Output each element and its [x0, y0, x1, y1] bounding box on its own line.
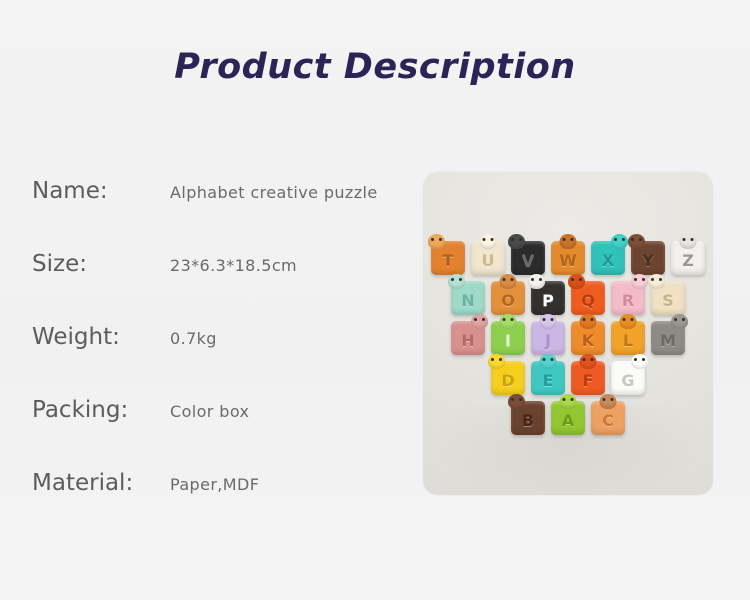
eye-icon	[459, 278, 462, 281]
puzzle-piece-letter: A	[562, 413, 574, 429]
puzzle-piece-letter: H	[461, 333, 474, 349]
puzzle-piece-s: S	[651, 281, 685, 315]
puzzle-piece-e: E	[531, 361, 565, 395]
eye-icon	[551, 358, 554, 361]
eye-icon	[631, 238, 634, 241]
spec-label-material: Material:	[32, 468, 133, 498]
puzzle-piece-j: J	[531, 321, 565, 355]
spec-value-weight: 0.7kg	[170, 326, 217, 352]
eye-icon	[539, 278, 542, 281]
puzzle-piece-letter: C	[602, 413, 614, 429]
spec-row-weight: Weight: 0.7kg	[32, 322, 402, 395]
spec-value-name: Alphabet creative puzzle	[170, 180, 378, 206]
goose-head-icon	[631, 354, 648, 369]
eye-icon	[683, 238, 686, 241]
eye-icon	[503, 278, 506, 281]
jellyfish-head-icon	[540, 314, 557, 329]
puzzle-piece-z: Z	[671, 241, 705, 275]
puzzle-piece-letter: G	[621, 373, 634, 389]
puzzle-piece-letter: E	[543, 373, 554, 389]
puzzle-piece-letter: L	[623, 333, 633, 349]
yak-head-icon	[628, 234, 645, 249]
puzzle-piece-y: Y	[631, 241, 665, 275]
puzzle-piece-grid: TUVWXYZNOPQRSHIJKLMDEFGBAC	[423, 172, 713, 495]
puzzle-piece-b: B	[511, 401, 545, 435]
eye-icon	[591, 358, 594, 361]
specification-list: Name: Alphabet creative puzzle Size: 23*…	[32, 176, 402, 541]
puzzle-piece-p: P	[531, 281, 565, 315]
eye-icon	[531, 278, 534, 281]
eye-icon	[519, 238, 522, 241]
eye-icon	[639, 238, 642, 241]
puzzle-piece-q: Q	[571, 281, 605, 315]
puzzle-piece-i: I	[491, 321, 525, 355]
elephant-head-icon	[540, 354, 557, 369]
eye-icon	[551, 318, 554, 321]
puzzle-piece-letter: Z	[682, 253, 694, 269]
eye-icon	[642, 278, 645, 281]
eye-icon	[482, 318, 485, 321]
eye-icon	[563, 398, 566, 401]
puzzle-piece-a: A	[551, 401, 585, 435]
spec-value-size: 23*6.3*18.5cm	[170, 253, 297, 279]
product-description-page: Product Description Name: Alphabet creat…	[0, 0, 750, 600]
owl-head-icon	[500, 274, 517, 289]
puzzle-piece-letter: O	[501, 293, 515, 309]
page-title: Product Description	[174, 48, 575, 87]
puzzle-piece-letter: D	[501, 373, 514, 389]
rhino-head-icon	[631, 274, 648, 289]
eye-icon	[431, 238, 434, 241]
puzzle-row: NOPQRS	[423, 281, 713, 315]
spec-label-name: Name:	[32, 176, 108, 206]
eye-icon	[499, 358, 502, 361]
puzzle-piece-l: L	[611, 321, 645, 355]
puzzle-piece-letter: K	[582, 333, 594, 349]
puzzle-piece-n: N	[451, 281, 485, 315]
eye-icon	[583, 358, 586, 361]
puzzle-piece-v: V	[511, 241, 545, 275]
quail-head-icon	[568, 274, 585, 289]
bear-head-icon	[508, 394, 525, 409]
eye-icon	[474, 318, 477, 321]
eye-icon	[634, 358, 637, 361]
eye-icon	[603, 398, 606, 401]
eye-icon	[483, 238, 486, 241]
eye-icon	[674, 318, 677, 321]
tiger-head-icon	[428, 234, 445, 249]
alligator-head-icon	[560, 394, 577, 409]
eye-icon	[491, 238, 494, 241]
eye-icon	[511, 278, 514, 281]
puzzle-piece-letter: M	[660, 333, 676, 349]
puzzle-piece-x: X	[591, 241, 625, 275]
puzzle-piece-letter: R	[622, 293, 634, 309]
puzzle-piece-o: O	[491, 281, 525, 315]
mammoth-head-icon	[671, 314, 688, 329]
fox-head-icon	[611, 234, 628, 249]
eye-icon	[623, 318, 626, 321]
spec-row-size: Size: 23*6.3*18.5cm	[32, 249, 402, 322]
eye-icon	[571, 398, 574, 401]
puzzle-row: TUVWXYZ	[423, 241, 713, 275]
eye-icon	[583, 318, 586, 321]
puzzle-row: BAC	[423, 401, 713, 435]
puzzle-piece-t: T	[431, 241, 465, 275]
eye-icon	[543, 318, 546, 321]
eye-icon	[611, 398, 614, 401]
puzzle-piece-f: F	[571, 361, 605, 395]
puzzle-piece-u: U	[471, 241, 505, 275]
product-photo: TUVWXYZNOPQRSHIJKLMDEFGBAC	[423, 172, 713, 495]
eye-icon	[491, 358, 494, 361]
spec-label-weight: Weight:	[32, 322, 120, 352]
puzzle-row: DEFG	[423, 361, 713, 395]
puzzle-piece-c: C	[591, 401, 625, 435]
puzzle-piece-letter: J	[545, 333, 551, 349]
spec-label-packing: Packing:	[32, 395, 128, 425]
eye-icon	[571, 238, 574, 241]
puzzle-piece-letter: F	[583, 373, 594, 389]
eye-icon	[511, 238, 514, 241]
puzzle-piece-letter: W	[559, 253, 577, 269]
eye-icon	[503, 318, 506, 321]
spec-row-name: Name: Alphabet creative puzzle	[32, 176, 402, 249]
eye-icon	[651, 278, 654, 281]
puzzle-piece-letter: N	[461, 293, 474, 309]
zebra-head-icon	[680, 234, 697, 249]
narwhal-head-icon	[448, 274, 465, 289]
iguana-head-icon	[500, 314, 517, 329]
spec-row-packing: Packing: Color box	[32, 395, 402, 468]
spec-label-size: Size:	[32, 249, 87, 279]
walrus-head-icon	[560, 234, 577, 249]
lion-head-icon	[620, 314, 637, 329]
puzzle-piece-d: D	[491, 361, 525, 395]
eye-icon	[642, 358, 645, 361]
puzzle-piece-letter: P	[542, 293, 554, 309]
page-title-container: Product Description	[0, 48, 750, 87]
puzzle-piece-m: M	[651, 321, 685, 355]
puzzle-piece-letter: S	[662, 293, 674, 309]
panda-head-icon	[528, 274, 545, 289]
spec-value-material: Paper,MDF	[170, 472, 259, 498]
puzzle-piece-letter: Q	[581, 293, 595, 309]
puzzle-piece-letter: Y	[642, 253, 654, 269]
puzzle-piece-h: H	[451, 321, 485, 355]
eye-icon	[563, 238, 566, 241]
puzzle-piece-g: G	[611, 361, 645, 395]
eye-icon	[451, 278, 454, 281]
eye-icon	[591, 318, 594, 321]
koala-head-icon	[580, 314, 597, 329]
eye-icon	[659, 278, 662, 281]
eye-icon	[543, 358, 546, 361]
puzzle-piece-letter: U	[482, 253, 495, 269]
eye-icon	[614, 238, 617, 241]
eye-icon	[511, 398, 514, 401]
fox-head-icon	[580, 354, 597, 369]
eye-icon	[571, 278, 574, 281]
eye-icon	[511, 318, 514, 321]
vulture-head-icon	[508, 234, 525, 249]
eye-icon	[682, 318, 685, 321]
puzzle-piece-w: W	[551, 241, 585, 275]
eye-icon	[634, 278, 637, 281]
sheep-head-icon	[648, 274, 665, 289]
puzzle-piece-letter: T	[443, 253, 454, 269]
eye-icon	[439, 238, 442, 241]
puzzle-piece-k: K	[571, 321, 605, 355]
eye-icon	[579, 278, 582, 281]
camel-head-icon	[600, 394, 617, 409]
eye-icon	[631, 318, 634, 321]
puzzle-piece-letter: B	[522, 413, 534, 429]
eye-icon	[519, 398, 522, 401]
puzzle-piece-letter: V	[522, 253, 534, 269]
hippo-head-icon	[471, 314, 488, 329]
duck-head-icon	[488, 354, 505, 369]
puzzle-row: HIJKLM	[423, 321, 713, 355]
eye-icon	[691, 238, 694, 241]
spec-value-packing: Color box	[170, 399, 249, 425]
puzzle-piece-letter: I	[505, 333, 511, 349]
puzzle-piece-r: R	[611, 281, 645, 315]
rabbit-head-icon	[480, 234, 497, 249]
spec-row-material: Material: Paper,MDF	[32, 468, 402, 541]
puzzle-piece-letter: X	[602, 253, 614, 269]
eye-icon	[622, 238, 625, 241]
